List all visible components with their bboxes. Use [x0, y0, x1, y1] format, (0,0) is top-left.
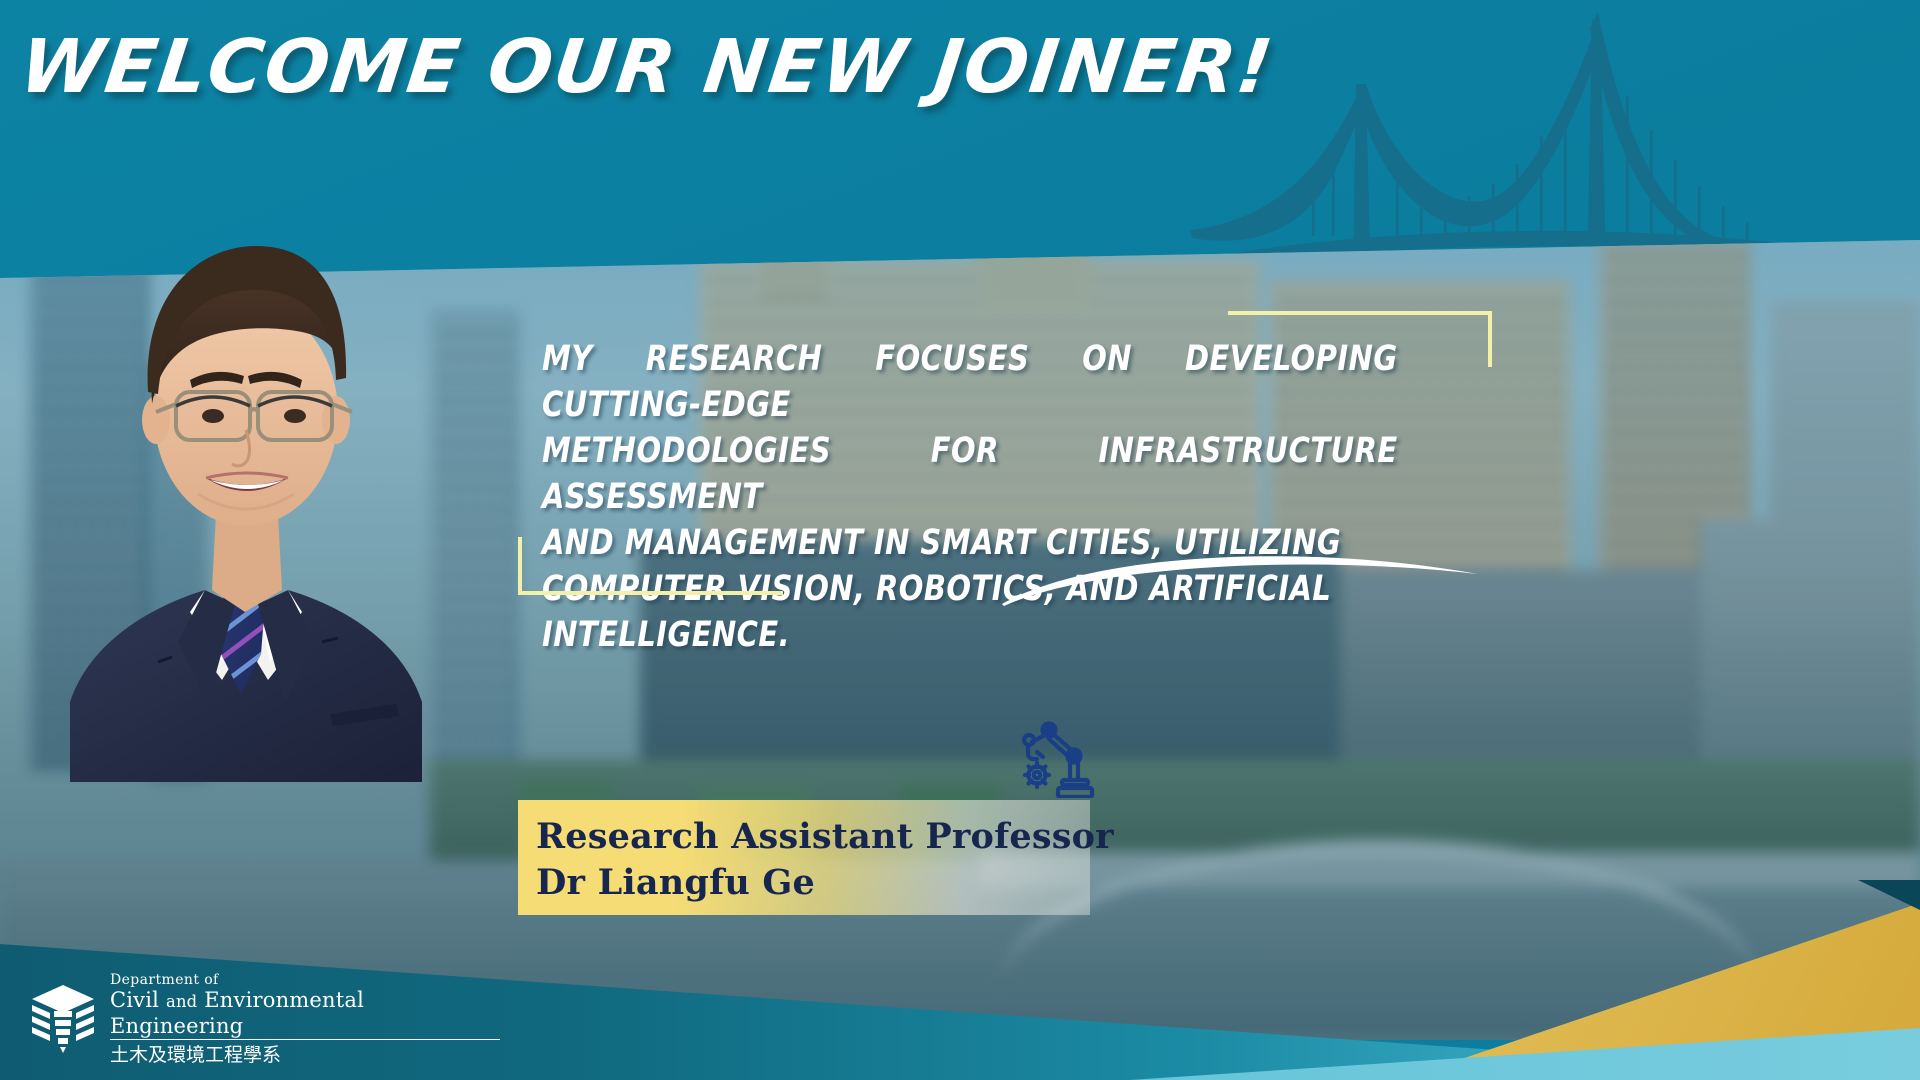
- logo-line-discipline: Civil and Environmental Engineering: [110, 988, 500, 1040]
- nameplate-name: Dr Liangfu Ge: [536, 860, 1090, 906]
- quote-line: MY RESEARCH FOCUSES ON DEVELOPING CUTTIN…: [542, 336, 1398, 428]
- quote-line: METHODOLOGIES FOR INFRASTRUCTURE ASSESSM…: [542, 428, 1398, 520]
- poster-canvas: WELCOME OUR NEW JOINER! MY RESEARCH FOCU…: [0, 0, 1920, 1080]
- logo-and: and: [166, 992, 197, 1011]
- logo-line-chinese: 土木及環境工程學系: [110, 1043, 500, 1067]
- swoosh-line: [1000, 548, 1480, 608]
- cee-stacked-logo-icon: [30, 983, 96, 1055]
- logo-line-department: Department of: [110, 972, 500, 988]
- status-badge: Research Assistant Professor Dr Liangfu …: [518, 800, 1090, 915]
- robot-arm-icon: [1012, 718, 1102, 798]
- bracket-bottom-left: [518, 537, 783, 595]
- nameplate-title: Research Assistant Professor: [536, 814, 1090, 860]
- portrait-photo: [30, 142, 460, 782]
- department-logo: Department of Civil and Environmental En…: [30, 978, 500, 1060]
- page-title: WELCOME OUR NEW JOINER!: [15, 24, 1278, 110]
- quote-text: MY RESEARCH FOCUSES ON DEVELOPING CUTTIN…: [542, 336, 1398, 658]
- logo-civil: Civil: [110, 988, 159, 1012]
- quote-line: INTELLIGENCE.: [542, 612, 1398, 658]
